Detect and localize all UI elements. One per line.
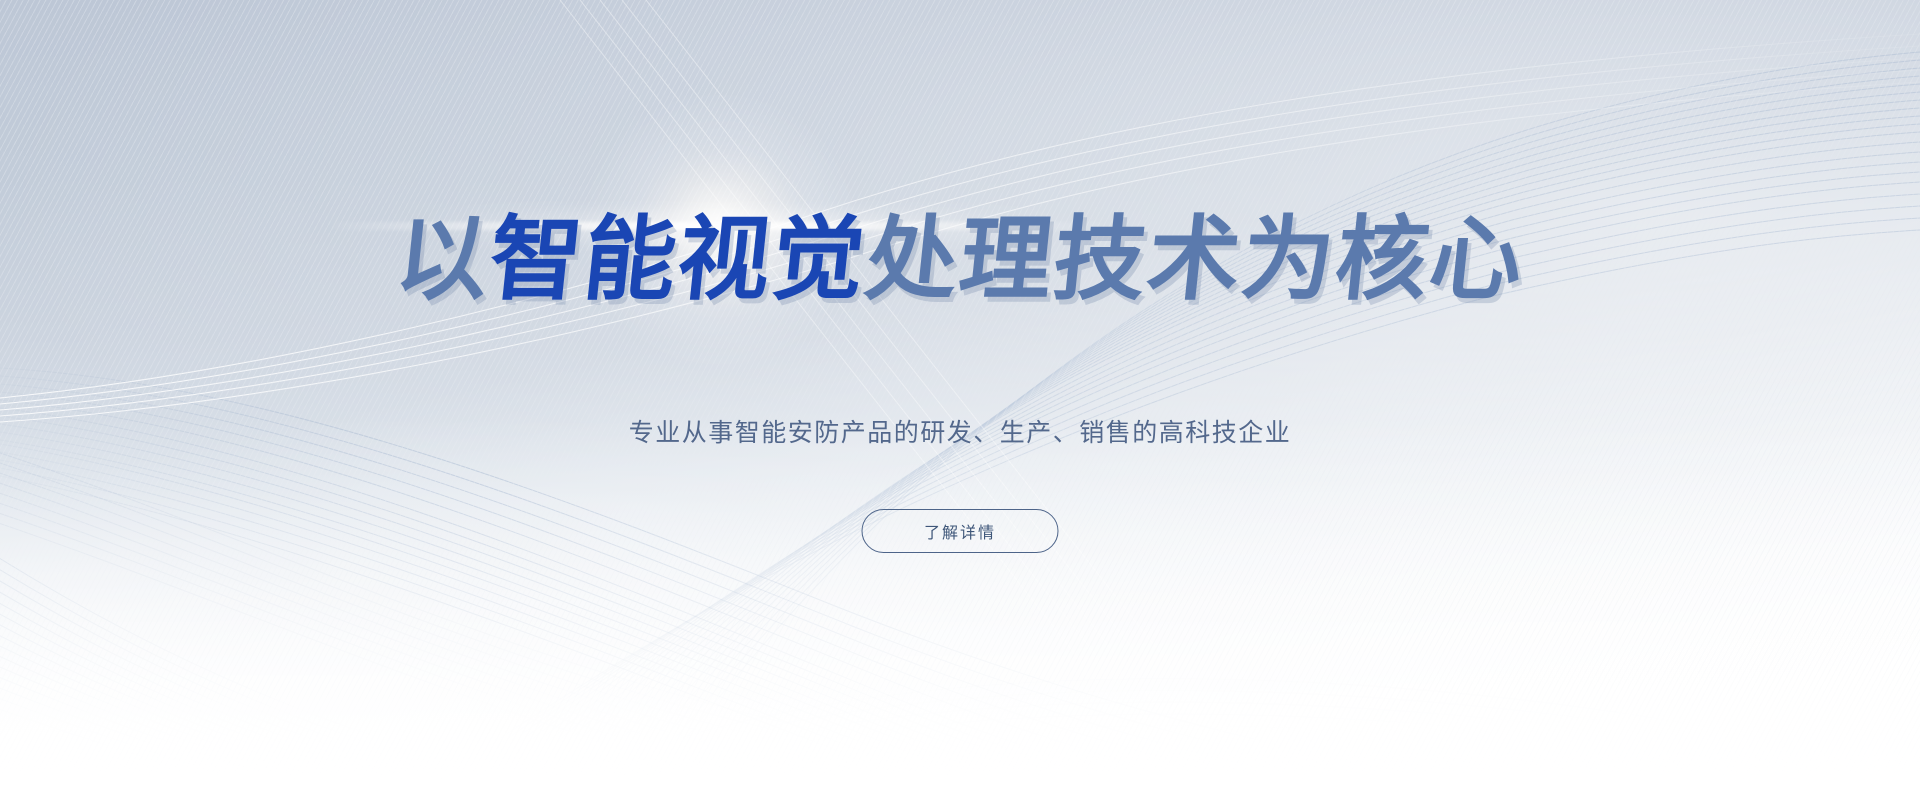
hero-headline: 以智能视觉处理技术为核心	[0, 214, 1920, 306]
hero-content: 以智能视觉处理技术为核心 专业从事智能安防产品的研发、生产、销售的高科技企业 了…	[0, 0, 1920, 800]
headline-segment-2: 智能视觉	[484, 206, 871, 313]
headline-segment-3: 处理技术为核心	[860, 206, 1529, 313]
hero-subtitle: 专业从事智能安防产品的研发、生产、销售的高科技企业	[0, 415, 1920, 450]
learn-more-button[interactable]: 了解详情	[862, 509, 1059, 553]
hero-banner: 以智能视觉处理技术为核心 专业从事智能安防产品的研发、生产、销售的高科技企业 了…	[0, 0, 1920, 800]
headline-segment-1: 以	[390, 206, 495, 313]
